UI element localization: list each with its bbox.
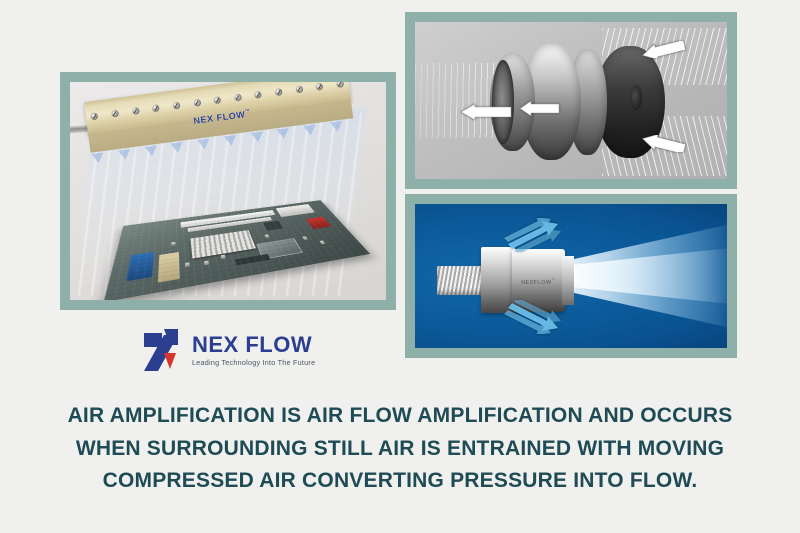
air-knife-screw <box>234 93 242 101</box>
caption-line-2: WHEN SURROUNDING STILL AIR IS ENTRAINED … <box>0 433 800 466</box>
nozzle-threaded-inlet <box>437 266 484 295</box>
airflow-chevron <box>304 124 317 135</box>
amplifier-inlet-port <box>630 85 642 111</box>
capacitor <box>302 236 308 240</box>
panel-air-nozzle: NEXFLOW™ <box>405 194 737 358</box>
airflow-chevron <box>144 145 157 156</box>
air-knife-screw <box>295 85 303 93</box>
trademark-symbol: ™ <box>551 278 555 282</box>
entrained-air-arrows-bottom <box>502 300 564 334</box>
entrained-air-arrows-top <box>502 218 564 252</box>
capacitor <box>185 262 190 267</box>
capacitor <box>220 255 225 259</box>
panel-amplifier-image <box>415 22 727 179</box>
pci-slot-blue <box>126 252 154 281</box>
board-component-dark-1 <box>234 254 271 266</box>
ram-slot-2 <box>187 217 272 232</box>
air-knife-screw <box>254 91 262 99</box>
nexflow-logo[interactable]: NEX FLOW Leading Technology Into The Fut… <box>140 322 340 378</box>
air-nozzle-scene: NEXFLOW™ <box>415 204 727 348</box>
flow-arrow-entrained-top <box>640 41 688 58</box>
capacitor <box>203 261 208 266</box>
trademark-symbol: ™ <box>244 108 250 115</box>
chipset-socket <box>256 238 302 259</box>
airflow-chevron <box>198 138 211 149</box>
air-knife-screw <box>316 83 324 91</box>
air-knife-screw <box>336 82 344 88</box>
airflow-chevron <box>171 142 184 153</box>
logo-text-block: NEX FLOW Leading Technology Into The Fut… <box>192 334 315 366</box>
logo-tagline: Leading Technology Into The Future <box>192 359 315 366</box>
airflow-chevron <box>330 121 343 132</box>
nozzle-outlet-tip <box>562 256 574 305</box>
red-connector <box>305 217 330 230</box>
panel-air-amplifier-cutaway <box>405 12 737 189</box>
pci-slot-beige <box>157 252 180 283</box>
air-knife-screw <box>152 104 160 112</box>
nozzle-brand-label: NEXFLOW™ <box>521 278 555 286</box>
air-knife-screw <box>275 88 283 96</box>
airflow-chevron <box>224 135 237 146</box>
amplifier-bore-opening <box>492 60 515 144</box>
nexflow-arrow-mark-icon <box>140 327 184 373</box>
airflow-chevron <box>251 131 264 142</box>
air-amplifier-body <box>490 44 665 160</box>
caption-block: AIR AMPLIFICATION IS AIR FLOW AMPLIFICAT… <box>0 400 800 498</box>
cpu-heatsink <box>190 230 255 259</box>
air-amplifier-scene <box>415 22 727 179</box>
logo-wordmark: NEX FLOW <box>192 334 315 356</box>
motherboard-scene: NEX FLOW™ <box>70 82 386 300</box>
air-knife-screw <box>91 112 99 120</box>
board-component-dark-2 <box>263 221 283 231</box>
panel-motherboard-image: NEX FLOW™ <box>70 82 386 300</box>
capacitor <box>171 242 175 246</box>
panel-nozzle-image: NEXFLOW™ <box>415 204 727 348</box>
io-shield <box>275 204 314 217</box>
flow-arrow-outlet-left <box>459 104 515 120</box>
air-knife-screw <box>131 107 139 115</box>
air-knife-screw <box>213 96 221 104</box>
air-knife-screw <box>193 99 201 107</box>
caption-line-1: AIR AMPLIFICATION IS AIR FLOW AMPLIFICAT… <box>0 400 800 433</box>
flow-arrow-outlet-core <box>518 101 562 116</box>
airflow-chevron <box>118 149 131 160</box>
airflow-chevron <box>277 128 290 139</box>
capacitor <box>264 234 269 238</box>
caption-line-3: COMPRESSED AIR CONVERTING PRESSURE INTO … <box>0 465 800 498</box>
flow-arrow-entrained-bottom <box>640 135 688 152</box>
nozzle-brand-text: NEXFLOW <box>521 279 551 285</box>
air-knife-screw <box>111 110 119 118</box>
air-knife-screw <box>172 101 180 109</box>
capacitor <box>319 240 325 244</box>
infographic-canvas: NEX FLOW™ <box>0 0 800 533</box>
panel-motherboard-air-knife: NEX FLOW™ <box>60 72 396 310</box>
airflow-chevron <box>91 152 104 163</box>
